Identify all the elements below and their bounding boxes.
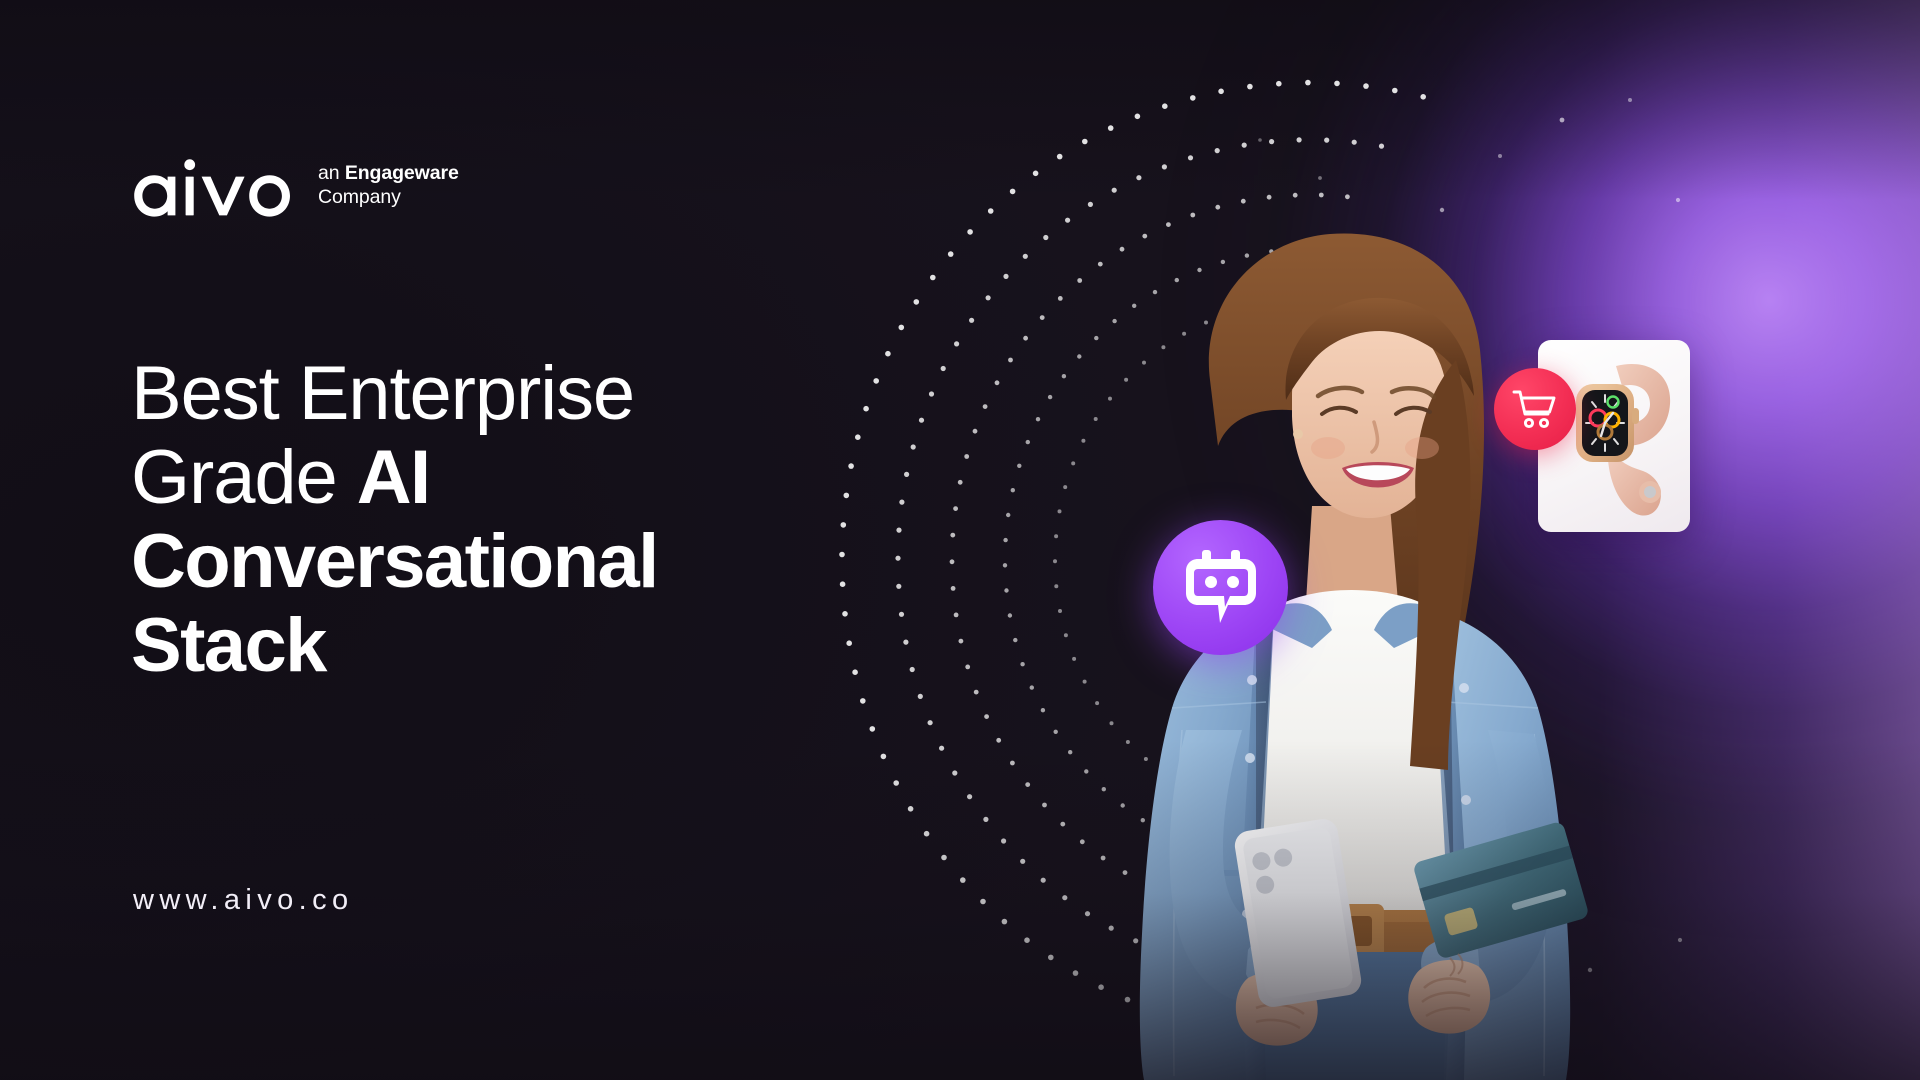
banner-canvas: an Engageware Company Best Enterprise Gr… bbox=[0, 0, 1920, 1080]
headline-line3-bold: Conversational bbox=[131, 519, 658, 604]
tagline-company: Engageware bbox=[345, 162, 459, 184]
headline-line-3: Conversational bbox=[131, 520, 891, 604]
headline-line2-light: Grade bbox=[131, 435, 357, 520]
headline-line2-bold: AI bbox=[357, 435, 430, 520]
headline-line-4: Stack bbox=[131, 604, 891, 688]
headline-line-2: Grade AI bbox=[131, 436, 891, 520]
smartwatch-icon bbox=[1552, 350, 1676, 522]
engageware-tagline: an Engageware Company bbox=[318, 158, 459, 210]
headline-line-1: Best Enterprise bbox=[131, 352, 891, 436]
page-title: Best Enterprise Grade AI Conversational … bbox=[131, 352, 891, 688]
tagline-suffix: Company bbox=[318, 186, 401, 208]
aivo-logo-wordmark-icon bbox=[131, 158, 296, 218]
chatbot-icon bbox=[1184, 550, 1258, 626]
chatbot-badge[interactable] bbox=[1153, 520, 1288, 655]
shopping-cart-badge[interactable] bbox=[1494, 368, 1576, 450]
website-url[interactable]: www.aivo.co bbox=[133, 884, 354, 917]
shopping-cart-icon bbox=[1512, 388, 1558, 430]
headline-line4-bold: Stack bbox=[131, 603, 326, 688]
headline-line1-light: Best Enterprise bbox=[131, 351, 634, 436]
tagline-prefix: an bbox=[318, 162, 345, 184]
aivo-logo[interactable]: an Engageware Company bbox=[131, 158, 459, 218]
